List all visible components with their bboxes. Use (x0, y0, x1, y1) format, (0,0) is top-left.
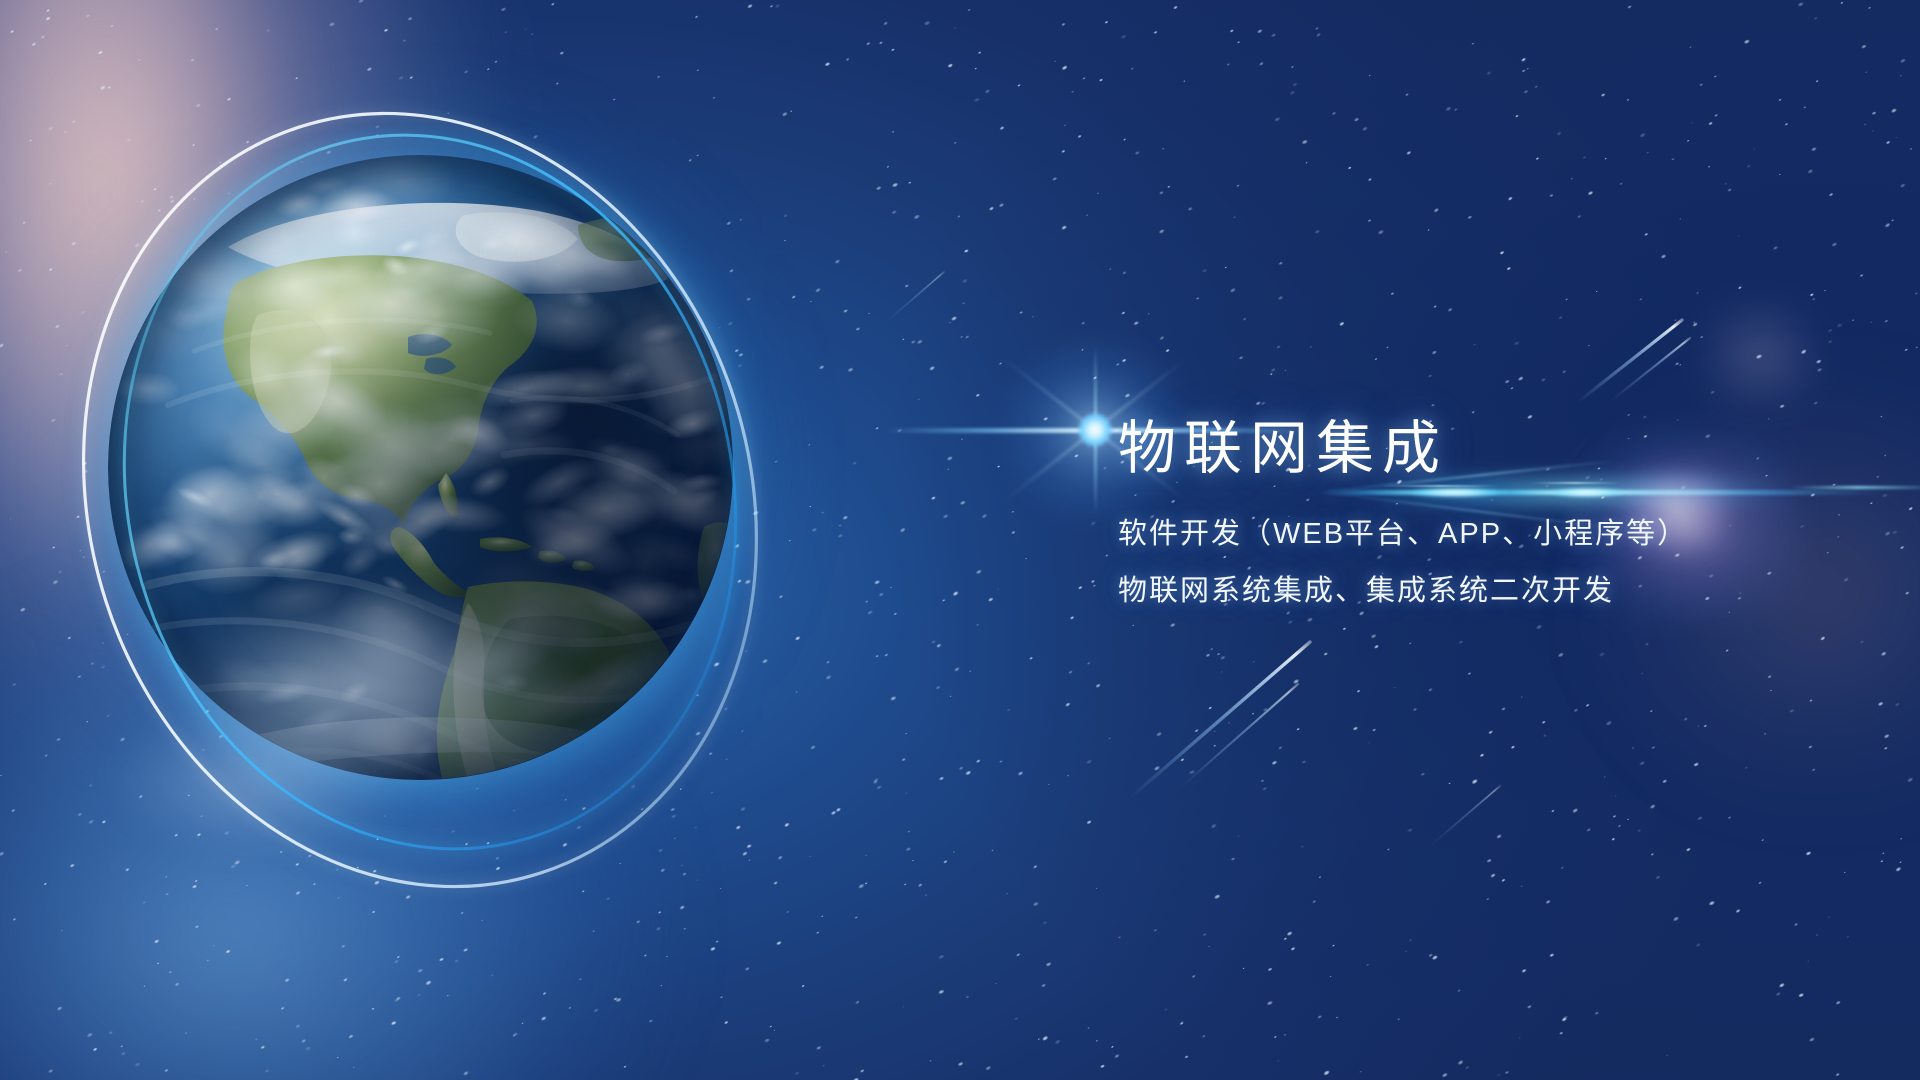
earth-globe (108, 155, 733, 880)
hero-banner: 物联网集成 软件开发（WEB平台、APP、小程序等） 物联网系统集成、集成系统二… (0, 0, 1920, 1080)
banner-copy: 物联网集成 软件开发（WEB平台、APP、小程序等） 物联网系统集成、集成系统二… (1118, 420, 1898, 606)
banner-subline-1: 软件开发（WEB平台、APP、小程序等） (1118, 520, 1898, 549)
globe-limb-highlight (108, 155, 733, 780)
globe-sphere (108, 155, 733, 780)
banner-headline: 物联网集成 (1118, 420, 1898, 478)
banner-subline-2: 物联网系统集成、集成系统二次开发 (1118, 577, 1898, 606)
